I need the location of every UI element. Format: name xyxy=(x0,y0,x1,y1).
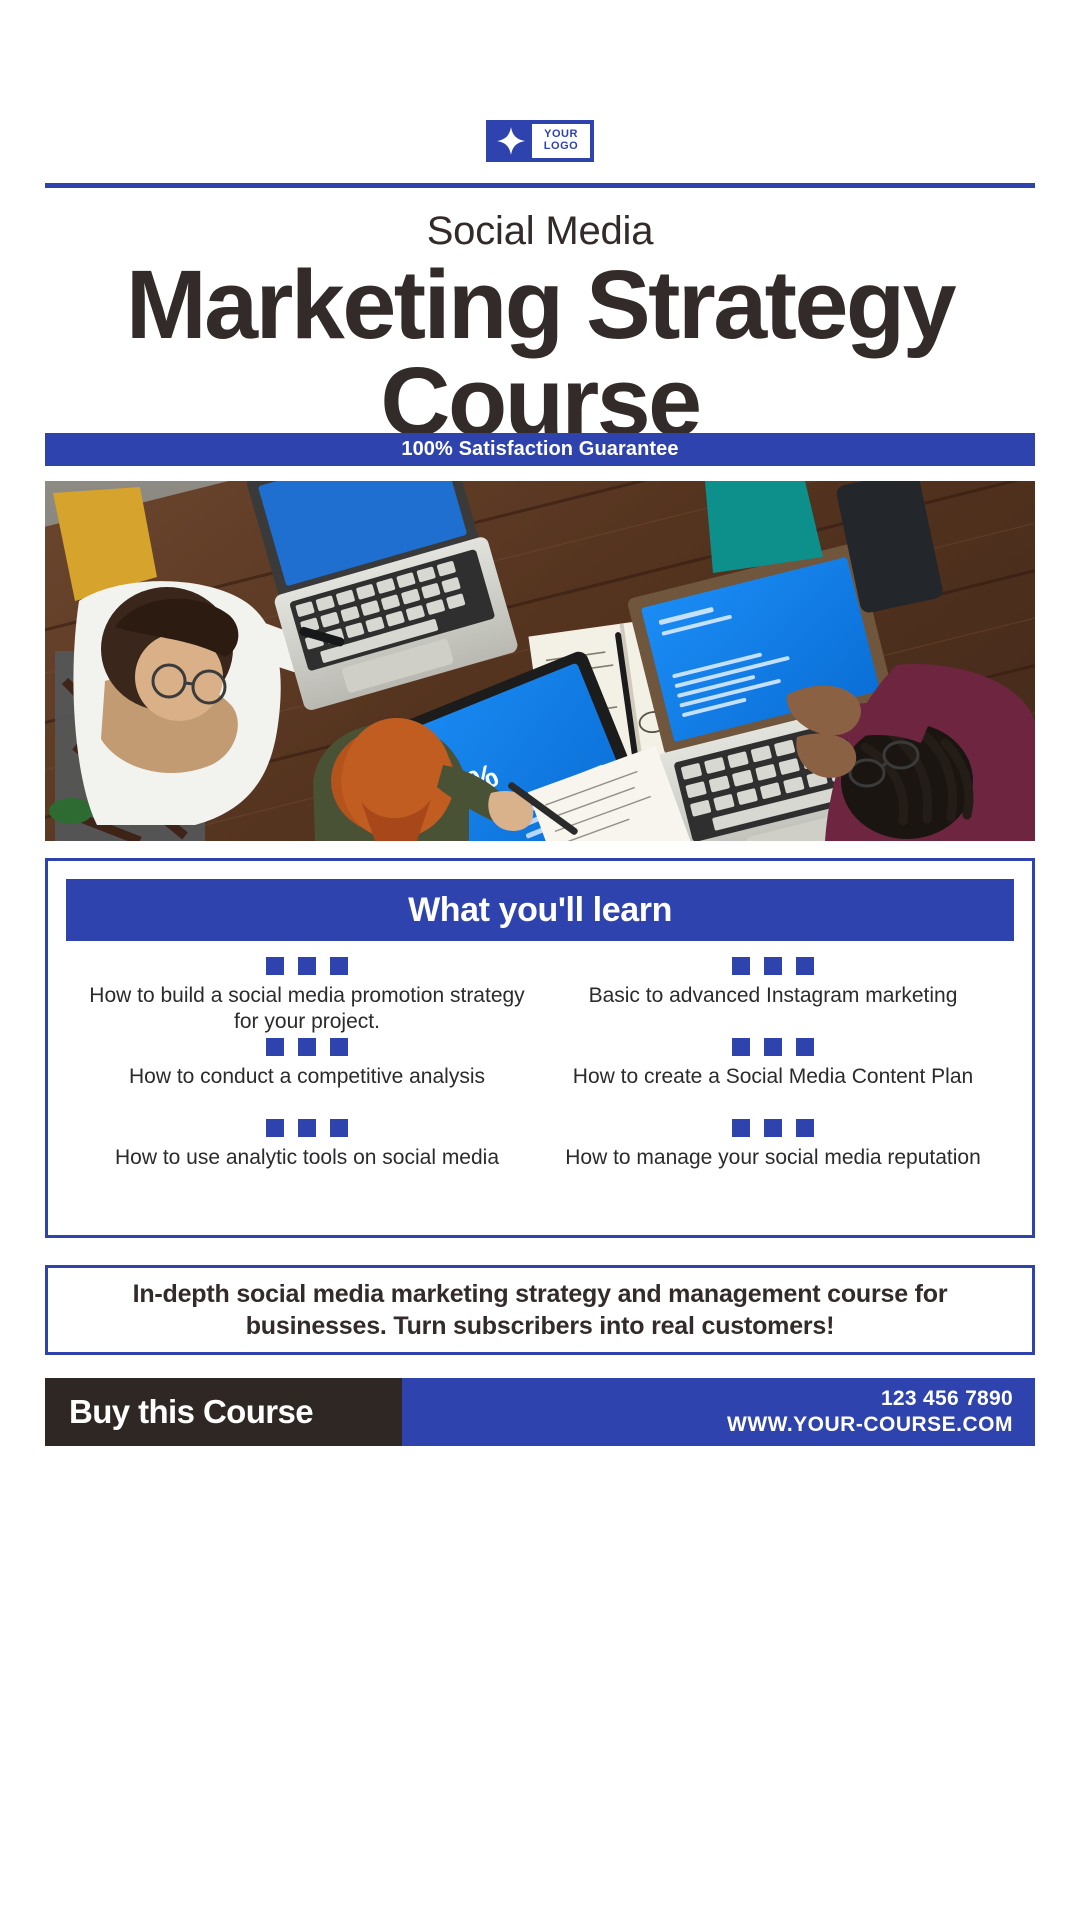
logo: YOUR LOGO xyxy=(0,120,1080,162)
square-icon xyxy=(796,1119,814,1137)
buy-this-course-button[interactable]: Buy this Course xyxy=(45,1378,402,1446)
square-icon xyxy=(764,1038,782,1056)
three-squares-icon xyxy=(86,1038,528,1056)
poster-root: YOUR LOGO Social Media Marketing Strateg… xyxy=(0,0,1080,1920)
learn-card-title: What you'll learn xyxy=(408,891,672,930)
three-squares-icon xyxy=(552,1119,994,1137)
learn-item: How to manage your social media reputati… xyxy=(540,1119,1006,1196)
square-icon xyxy=(330,957,348,975)
learn-items-grid: How to build a social media promotion st… xyxy=(48,941,1032,1207)
logo-wordmark: YOUR LOGO xyxy=(532,124,590,158)
learn-item: Basic to advanced Instagram marketing xyxy=(540,957,1006,1034)
three-squares-icon xyxy=(86,1119,528,1137)
learn-item: How to build a social media promotion st… xyxy=(74,957,540,1034)
guarantee-label: 100% Satisfaction Guarantee xyxy=(401,438,678,461)
kicker-text: Social Media xyxy=(40,208,1040,254)
hero-photo: 85.00% xyxy=(45,481,1035,841)
square-icon xyxy=(266,957,284,975)
learn-card-header: What you'll learn xyxy=(66,879,1014,941)
square-icon xyxy=(732,1038,750,1056)
footer: Buy this Course 123 456 7890 WWW.YOUR-CO… xyxy=(45,1378,1035,1446)
logo-line-2: LOGO xyxy=(544,141,578,153)
guarantee-banner: 100% Satisfaction Guarantee xyxy=(45,433,1035,466)
what-you-will-learn-card: What you'll learn How to build a social … xyxy=(45,858,1035,1238)
square-icon xyxy=(298,957,316,975)
phone-number[interactable]: 123 456 7890 xyxy=(881,1387,1013,1411)
logo-box: YOUR LOGO xyxy=(486,120,594,162)
divider-top xyxy=(45,183,1035,188)
learn-item-label: How to create a Social Media Content Pla… xyxy=(552,1064,994,1090)
square-icon xyxy=(266,1038,284,1056)
square-icon xyxy=(764,1119,782,1137)
square-icon xyxy=(732,957,750,975)
learn-item-label: Basic to advanced Instagram marketing xyxy=(552,983,994,1009)
learn-item-label: How to build a social media promotion st… xyxy=(86,983,528,1034)
learn-item-label: How to conduct a competitive analysis xyxy=(86,1064,528,1090)
course-description-text: In-depth social media marketing strategy… xyxy=(78,1278,1002,1343)
square-icon xyxy=(732,1119,750,1137)
square-icon xyxy=(764,957,782,975)
learn-item-label: How to use analytic tools on social medi… xyxy=(86,1145,528,1171)
square-icon xyxy=(266,1119,284,1137)
square-icon xyxy=(330,1038,348,1056)
learn-item-label: How to manage your social media reputati… xyxy=(552,1145,994,1171)
square-icon xyxy=(796,1038,814,1056)
course-description-box: In-depth social media marketing strategy… xyxy=(45,1265,1035,1355)
learn-item: How to use analytic tools on social medi… xyxy=(74,1119,540,1196)
three-squares-icon xyxy=(552,1038,994,1056)
website-url[interactable]: WWW.YOUR-COURSE.COM xyxy=(727,1413,1013,1437)
learn-item: How to create a Social Media Content Pla… xyxy=(540,1038,1006,1115)
square-icon xyxy=(796,957,814,975)
footer-contact: 123 456 7890 WWW.YOUR-COURSE.COM xyxy=(402,1378,1035,1446)
three-squares-icon xyxy=(86,957,528,975)
square-icon xyxy=(298,1038,316,1056)
three-squares-icon xyxy=(552,957,994,975)
sparkle-icon xyxy=(490,124,532,158)
hero-photo-image: 85.00% xyxy=(45,481,1035,841)
headline-line-1: Marketing Strategy xyxy=(40,258,1040,351)
square-icon xyxy=(330,1119,348,1137)
buy-this-course-label: Buy this Course xyxy=(69,1393,313,1431)
square-icon xyxy=(298,1119,316,1137)
title-block: Social Media Marketing Strategy Course xyxy=(40,208,1040,448)
learn-item: How to conduct a competitive analysis xyxy=(74,1038,540,1115)
